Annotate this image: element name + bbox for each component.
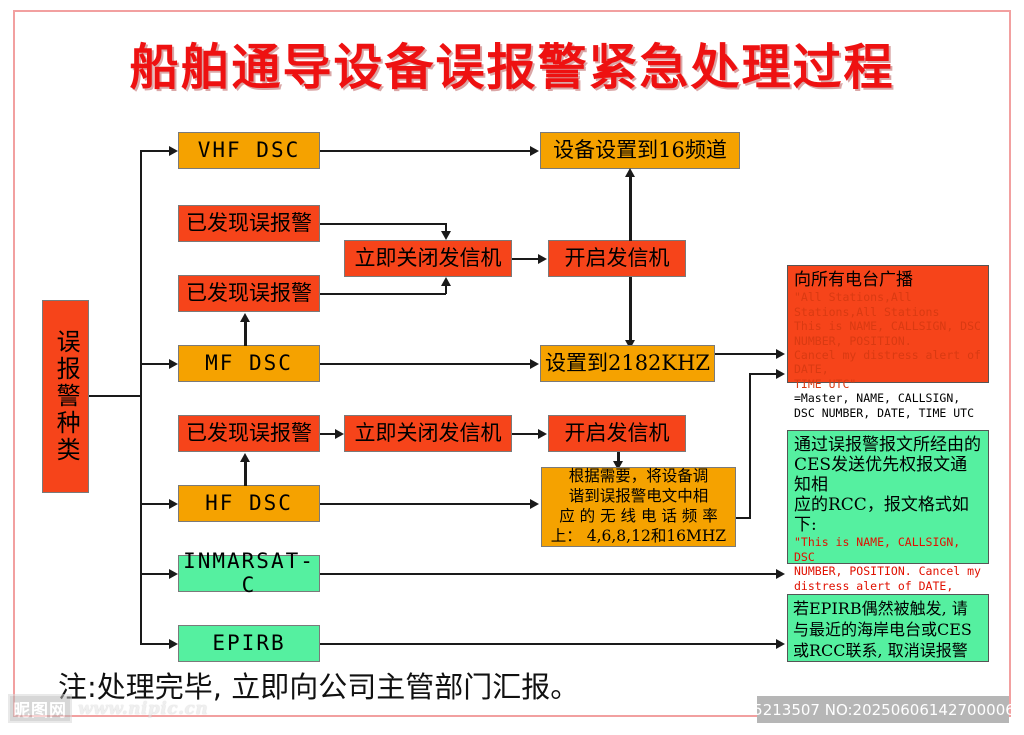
link-shutdown1-start1	[512, 258, 539, 260]
node-hf-dsc: HF DSC	[178, 485, 320, 522]
broadcast-quote-4: TIME UTC"	[794, 377, 983, 391]
node-mf-dsc: MF DSC	[178, 345, 320, 382]
branch-hf	[141, 503, 171, 505]
branch-mf	[141, 363, 171, 365]
arrow-hf-up	[240, 453, 250, 462]
arrow-to-epirb-panel	[776, 639, 785, 649]
node-shutdown-tx-2: 立即关闭发信机	[344, 415, 512, 452]
arrow-to-broadcast-2	[776, 369, 785, 379]
arrow-to-tune	[530, 499, 539, 509]
node-set-ch16: 设备设置到16频道	[540, 132, 740, 169]
link-mf-to-2182	[320, 363, 531, 365]
branch-vhf	[141, 150, 171, 152]
branch-inmarsat	[141, 573, 171, 575]
root-stem	[89, 395, 141, 397]
node-found-alarm-1: 已发现误报警	[178, 205, 320, 242]
node-found-alarm-3: 已发现误报警	[178, 415, 320, 452]
node-vhf-dsc-label: VHF DSC	[198, 139, 301, 162]
node-epirb: EPIRB	[178, 625, 320, 662]
panel-broadcast-all-stations: 向所有电台广播 "All Stations,All Stations,All S…	[787, 265, 989, 383]
broadcast-quote-3: Cancel my distress alert of DATE,	[794, 348, 983, 377]
node-inmarsat-c-label: INMARSAT-C	[179, 550, 319, 596]
node-shutdown-tx-2-label: 立即关闭发信机	[355, 422, 502, 445]
arrow-to-inmarsat	[169, 569, 178, 579]
node-vhf-dsc: VHF DSC	[178, 132, 320, 169]
elbow-fa2-h	[320, 293, 446, 295]
arrow-fa2-up	[441, 277, 451, 286]
node-hf-dsc-label: HF DSC	[205, 492, 293, 515]
link-hf-up	[244, 462, 247, 486]
epirb-line-1: 与最近的海岸电台或CES	[793, 619, 983, 640]
node-root-label: 误报警种类	[53, 329, 78, 464]
ces-quote-0: "This is NAME, CALLSIGN, DSC	[794, 535, 983, 564]
node-tune-radiotelephone: 根据需要，将设备调 谐到误报警电文中相 应 的 无 线 电 话 频 率 上： 4…	[541, 467, 736, 547]
node-found-alarm-2-label: 已发现误报警	[186, 282, 312, 305]
arrow-to-start-tx-2	[538, 429, 547, 439]
node-start-tx-2-label: 开启发信机	[565, 422, 670, 445]
link-mf-up	[244, 322, 247, 346]
node-found-alarm-1-label: 已发现误报警	[186, 212, 312, 235]
tune-line-1: 谐到误报警电文中相	[546, 487, 731, 507]
ces-heading-2: 应的RCC，报文格式如下:	[794, 495, 983, 535]
link-shutdown2-start2	[512, 433, 539, 435]
poster-canvas: 船舶通导设备误报警紧急处理过程 误报警种类 VHF DSC MF DSC HF …	[0, 0, 1024, 735]
ces-heading-1: CES发送优先权报文通知相	[794, 455, 983, 495]
link-vhf-to-ch16	[320, 150, 531, 152]
broadcast-heading: 向所有电台广播	[794, 270, 983, 290]
arrow-to-mf	[169, 359, 178, 369]
node-epirb-label: EPIRB	[212, 632, 285, 655]
ces-quote-1: NUMBER, POSITION. Cancel my	[794, 564, 983, 578]
arrow-to-broadcast-1	[776, 349, 785, 359]
arrow-spine-up-ch16	[625, 168, 635, 177]
panel-ces-notify-rcc: 通过误报警报文所经由的 CES发送优先权报文通知相 应的RCC，报文格式如下: …	[787, 430, 989, 564]
link-epirb-panel	[320, 643, 777, 645]
watermark-url: www.nipic.cn	[78, 699, 208, 719]
arrow-to-ces	[776, 569, 785, 579]
arrow-to-shutdown-tx-2	[335, 429, 344, 439]
node-found-alarm-2: 已发现误报警	[178, 275, 320, 312]
watermark-logo: 昵图网	[8, 694, 72, 723]
root-trunk	[140, 150, 142, 645]
panel-epirb-cancel: 若EPIRB偶然被触发, 请 与最近的海岸电台或CES 或RCC联系, 取消误报…	[787, 594, 989, 662]
tune-line-3: 上： 4,6,8,12和16MHZ	[546, 527, 731, 547]
ces-heading-0: 通过误报警报文所经由的	[794, 435, 983, 455]
tune-line-0: 根据需要，将设备调	[546, 467, 731, 487]
page-title: 船舶通导设备误报警紧急处理过程	[0, 38, 1024, 96]
watermark: 昵图网 www.nipic.cn	[8, 694, 208, 723]
arrow-to-hf	[169, 499, 178, 509]
epirb-line-2: 或RCC联系, 取消误报警	[793, 640, 983, 661]
node-set-2182: 设置到2182KHZ	[540, 345, 715, 382]
tune-line-2: 应 的 无 线 电 话 频 率	[546, 507, 731, 527]
arrow-to-ch16	[530, 146, 539, 156]
link-inmarsat-ces	[320, 573, 777, 575]
node-shutdown-tx-1: 立即关闭发信机	[344, 240, 512, 277]
link-fa3-shutdown2	[320, 433, 336, 435]
riser-tune-broadcast	[749, 373, 751, 518]
arrow-fa1-down	[441, 231, 451, 240]
node-start-tx-1: 开启发信机	[548, 240, 686, 277]
broadcast-quote-2: NUMBER, POSITION.	[794, 334, 983, 348]
spine-start1-down	[629, 277, 632, 345]
arrow-mf-up	[240, 313, 250, 322]
id-badge: ID:35213507 NO:20250606142700006101	[757, 696, 1009, 723]
elbow-fa2-v	[445, 285, 447, 294]
elbow-fa1-h	[320, 223, 446, 225]
link-2182-broadcast	[715, 353, 777, 355]
node-set-2182-label: 设置到2182KHZ	[545, 352, 710, 375]
broadcast-signature-1: DSC NUMBER, DATE, TIME UTC	[794, 406, 983, 420]
broadcast-quote-0: "All Stations,All Stations,All Stations	[794, 290, 983, 319]
node-mf-dsc-label: MF DSC	[205, 352, 293, 375]
broadcast-quote-1: This is NAME, CALLSIGN, DSC	[794, 319, 983, 333]
node-start-tx-1-label: 开启发信机	[565, 247, 670, 270]
node-inmarsat-c: INMARSAT-C	[178, 555, 320, 592]
branch-epirb	[141, 643, 171, 645]
node-set-ch16-label: 设备设置到16频道	[553, 139, 727, 162]
riser-tune-broadcast-base	[736, 517, 751, 519]
node-start-tx-2: 开启发信机	[548, 415, 686, 452]
node-root: 误报警种类	[42, 300, 89, 493]
arrow-to-vhf	[169, 146, 178, 156]
arrow-to-epirb	[169, 639, 178, 649]
epirb-line-0: 若EPIRB偶然被触发, 请	[793, 598, 983, 619]
arrow-to-start-tx-1	[538, 254, 547, 264]
link-hf-to-tune	[320, 503, 531, 505]
node-shutdown-tx-1-label: 立即关闭发信机	[355, 247, 502, 270]
node-found-alarm-3-label: 已发现误报警	[186, 422, 312, 445]
link-riser-broadcast	[749, 373, 777, 375]
broadcast-signature-0: =Master, NAME, CALLSIGN,	[794, 391, 983, 405]
arrow-to-2182	[530, 359, 539, 369]
spine-start1-up	[629, 177, 632, 241]
